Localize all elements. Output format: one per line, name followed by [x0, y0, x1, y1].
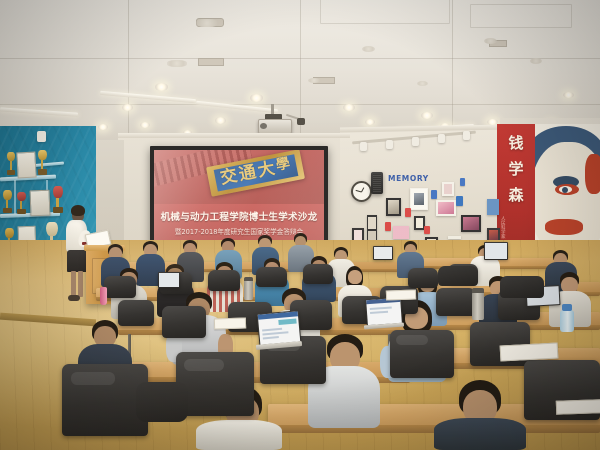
page-text-line: [370, 306, 392, 310]
lecture-room-photo: 交 通 大 學 机械与动力工程学院博士生学术沙龙 暨2017-2018年度研究生…: [0, 0, 600, 450]
backpack[interactable]: [136, 382, 188, 422]
presenter-hair: [71, 205, 85, 216]
wall-photo-frame: [461, 215, 481, 232]
photo-image: [444, 184, 452, 194]
backpack[interactable]: [500, 276, 544, 298]
color-card: [431, 190, 437, 199]
laptop[interactable]: [484, 242, 508, 260]
projector-sensor: [297, 118, 305, 125]
trophy-stem: [56, 198, 59, 207]
color-card: [460, 178, 465, 186]
trophy-base: [17, 209, 26, 214]
water-bottle[interactable]: [560, 310, 574, 332]
person-body: [196, 420, 282, 450]
laptop-screen-display: [485, 243, 507, 259]
thermos-cap: [472, 288, 484, 293]
projector-lens: [260, 123, 267, 129]
chair[interactable]: [303, 264, 333, 284]
wall-photo-frame: [386, 198, 401, 216]
laptop-screen-display: [258, 311, 300, 344]
ceiling-downlight: [167, 60, 187, 67]
ceiling-seam: [128, 0, 129, 150]
wall-photo-frame: [436, 200, 456, 216]
photo-image: [368, 217, 376, 229]
documents[interactable]: [556, 399, 600, 415]
laptop[interactable]: [373, 246, 393, 260]
track-light: [412, 137, 419, 146]
memory-wall-sign: MEMORY: [388, 174, 429, 183]
slide-title: 机械与动力工程学院博士生学术沙龙: [161, 209, 318, 223]
ceiling-panel: [470, 4, 572, 28]
presenter-leg: [71, 271, 76, 297]
page-text-line: [263, 336, 279, 339]
ceiling-panel: [320, 0, 450, 24]
thermos-flask[interactable]: [244, 280, 253, 300]
wall-trim: [118, 133, 350, 138]
track-light: [360, 142, 367, 151]
ceiling-downlight: [155, 83, 168, 91]
color-card: [385, 222, 391, 231]
page-text-line: [370, 311, 388, 314]
plaque-char-4: 學: [275, 156, 291, 172]
photo-image: [414, 193, 424, 205]
ceiling-downlight: [421, 112, 433, 119]
mural-char-2: 学: [500, 162, 532, 177]
ceiling-downlight: [530, 58, 542, 64]
track-light: [386, 140, 393, 149]
mural-char-1: 钱: [500, 136, 532, 151]
wall-ledge: [448, 236, 461, 239]
trophy-base: [38, 169, 47, 175]
ceiling-downlight: [417, 81, 428, 86]
laptop-screen-display: [374, 247, 392, 259]
trophy: [2, 190, 13, 214]
ceiling-downlight: [122, 104, 133, 111]
water-bottle[interactable]: [100, 287, 107, 305]
chair[interactable]: [208, 270, 240, 291]
trophy-stem: [20, 201, 22, 209]
wall-photo-frame: [393, 226, 409, 239]
trophy: [16, 192, 27, 214]
ceiling-downlight: [140, 122, 150, 128]
laptop-screen-display: [366, 298, 402, 325]
mural-mouth-shade: [545, 219, 583, 235]
ceiling-downlight: [362, 46, 375, 52]
trophy-base: [7, 170, 15, 175]
trophy-cup: [17, 192, 26, 201]
mural-shade: [585, 154, 600, 194]
trophy-cup: [7, 152, 15, 161]
laptop[interactable]: [257, 310, 302, 346]
bottle-cap: [562, 304, 572, 311]
person-head: [348, 270, 362, 284]
chair-highlight: [184, 359, 224, 371]
photo-image: [388, 200, 399, 214]
laptop[interactable]: [365, 297, 403, 326]
trophy-base: [3, 208, 12, 213]
ceiling-downlight: [484, 38, 497, 44]
trophy-cup: [46, 222, 58, 236]
trophy-cup: [3, 190, 12, 200]
color-card: [456, 196, 463, 206]
slide-upper-graphic: 交 通 大 學: [154, 150, 324, 204]
chair[interactable]: [436, 288, 476, 316]
thermos-cap: [244, 277, 253, 281]
trophy-base: [53, 207, 63, 213]
track-light: [37, 131, 46, 142]
documents[interactable]: [386, 289, 416, 300]
color-card: [424, 226, 430, 234]
trophy-stem: [41, 160, 43, 169]
color-card: [405, 208, 411, 217]
slide-subtitle: 暨2017-2018年度研究生国家奖学金答辩会: [175, 226, 303, 236]
documents[interactable]: [214, 317, 246, 329]
chair-highlight: [396, 335, 428, 345]
presenter-skirt: [67, 250, 87, 272]
trophy: [37, 150, 48, 176]
chair-highlight: [71, 372, 115, 385]
page-text-line: [262, 331, 288, 335]
ceiling-downlight: [98, 124, 108, 130]
ceiling-vent: [198, 58, 224, 66]
presenter-leg: [78, 271, 83, 297]
chair[interactable]: [162, 306, 206, 338]
laptop-screen-display: [159, 273, 179, 287]
ceiling-downlight: [250, 94, 263, 102]
wall-photo-frame: [442, 182, 454, 196]
ceiling-downlight: [308, 78, 320, 83]
ceiling-downlight: [365, 119, 375, 125]
chair[interactable]: [118, 300, 154, 326]
backpack[interactable]: [438, 266, 478, 286]
documents[interactable]: [500, 342, 559, 361]
trophy-cup: [53, 186, 63, 198]
plaque-char-3: 大: [257, 160, 277, 180]
speaker-grill: [373, 174, 381, 192]
trophy-cup: [38, 150, 47, 160]
person-body: [434, 418, 526, 450]
track-light: [463, 131, 470, 140]
ceiling-downlight: [215, 117, 226, 124]
photo-image: [463, 217, 479, 230]
trophy-stem: [10, 161, 12, 170]
wall-clock: [351, 181, 372, 202]
presenter-shoe: [68, 295, 80, 301]
page-accent-block: [278, 318, 296, 325]
wall-photo-frame: [487, 199, 499, 215]
photo-image: [438, 202, 454, 214]
ceiling-downlight: [343, 104, 355, 111]
chair[interactable]: [390, 330, 454, 378]
chair[interactable]: [408, 268, 438, 288]
ceiling-seam: [300, 0, 301, 150]
laptop[interactable]: [158, 272, 180, 288]
wall-speaker: [371, 172, 383, 194]
certificate-display: [16, 152, 36, 179]
ceiling-downlight: [196, 19, 218, 27]
plaque-char-1: 交: [220, 168, 240, 188]
wall-photo-frame: [410, 188, 428, 210]
track-light: [438, 134, 445, 143]
thermos-flask[interactable]: [472, 292, 484, 320]
chair[interactable]: [104, 276, 136, 298]
trophy-stem: [6, 200, 8, 208]
mural-pupil: [562, 187, 568, 193]
ceiling-downlight: [563, 92, 574, 98]
trophy: [52, 186, 64, 214]
trophy: [6, 152, 16, 176]
page-text-line: [262, 328, 282, 332]
photo-image: [416, 218, 423, 228]
plaque-char-2: 通: [238, 164, 258, 184]
award-plaque: [30, 190, 51, 217]
mural-char-3: 森: [500, 188, 532, 203]
trophy-cup: [5, 228, 14, 238]
chair[interactable]: [256, 267, 287, 287]
